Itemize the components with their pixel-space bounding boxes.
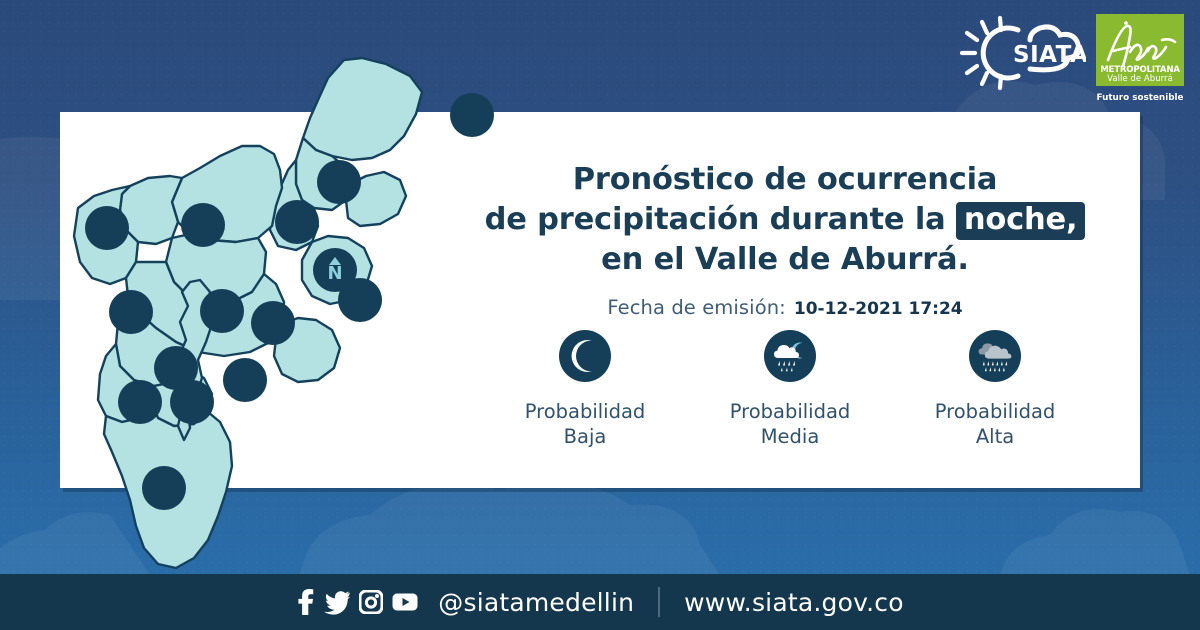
legend-baja-line1: Probabilidad	[490, 399, 680, 424]
legend-alta-line2: Alta	[900, 424, 1090, 449]
probability-legend: Probabilidad Baja Proba	[490, 330, 1090, 450]
headline-block: Pronóstico de ocurrencia de precipitació…	[470, 160, 1100, 319]
legend-label-media: Probabilidad Media	[695, 399, 885, 450]
legend-baja-line2: Baja	[490, 424, 680, 449]
cloud-heavy-rain-icon	[969, 330, 1021, 382]
legend-item-media: Probabilidad Media	[695, 330, 885, 450]
title-line-2-pre: de precipitación durante la	[485, 202, 956, 237]
footer-bar: @siatamedellin www.siata.gov.co	[0, 574, 1200, 630]
infographic-canvas: SIATA METROPOLITANA Valle de Aburrá Futu…	[0, 0, 1200, 630]
svg-text:SIATA: SIATA	[1013, 42, 1086, 68]
instagram-icon[interactable]	[359, 590, 383, 614]
legend-label-alta: Probabilidad Alta	[900, 399, 1090, 450]
title-line-3: en el Valle de Aburrá.	[601, 242, 969, 277]
legend-media-line2: Media	[695, 424, 885, 449]
emission-date-label: Fecha de emisión:	[607, 296, 786, 319]
moon-icon	[559, 330, 611, 382]
legend-alta-line1: Probabilidad	[900, 399, 1090, 424]
siata-logo: SIATA	[956, 14, 1086, 92]
social-handle[interactable]: @siatamedellin	[438, 588, 634, 617]
legend-label-baja: Probabilidad Baja	[490, 399, 680, 450]
logo-group: SIATA METROPOLITANA Valle de Aburrá Futu…	[956, 14, 1184, 106]
emission-date-row: Fecha de emisión: 10-12-2021 17:24	[470, 296, 1100, 319]
legend-media-line1: Probabilidad	[695, 399, 885, 424]
area-metropolitana-logo: METROPOLITANA Valle de Aburrá Futuro sos…	[1096, 14, 1184, 106]
page-title: Pronóstico de ocurrencia de precipitació…	[470, 160, 1100, 280]
svg-text:Futuro sostenible: Futuro sostenible	[1097, 93, 1184, 103]
title-line-1: Pronóstico de ocurrencia	[573, 162, 998, 197]
footer-divider	[658, 587, 660, 617]
legend-item-baja: Probabilidad Baja	[490, 330, 680, 450]
website-url[interactable]: www.siata.gov.co	[684, 588, 904, 617]
title-highlight-noche: noche,	[956, 202, 1086, 240]
legend-item-alta: Probabilidad Alta	[900, 330, 1090, 450]
emission-date-value: 10-12-2021 17:24	[794, 299, 963, 319]
social-icon-group	[296, 589, 418, 615]
twitter-icon[interactable]	[324, 589, 350, 615]
facebook-icon[interactable]	[296, 589, 315, 615]
youtube-icon[interactable]	[392, 592, 418, 612]
cloud-rain-moon-icon	[764, 330, 816, 382]
svg-text:Valle de Aburrá: Valle de Aburrá	[1107, 74, 1173, 84]
